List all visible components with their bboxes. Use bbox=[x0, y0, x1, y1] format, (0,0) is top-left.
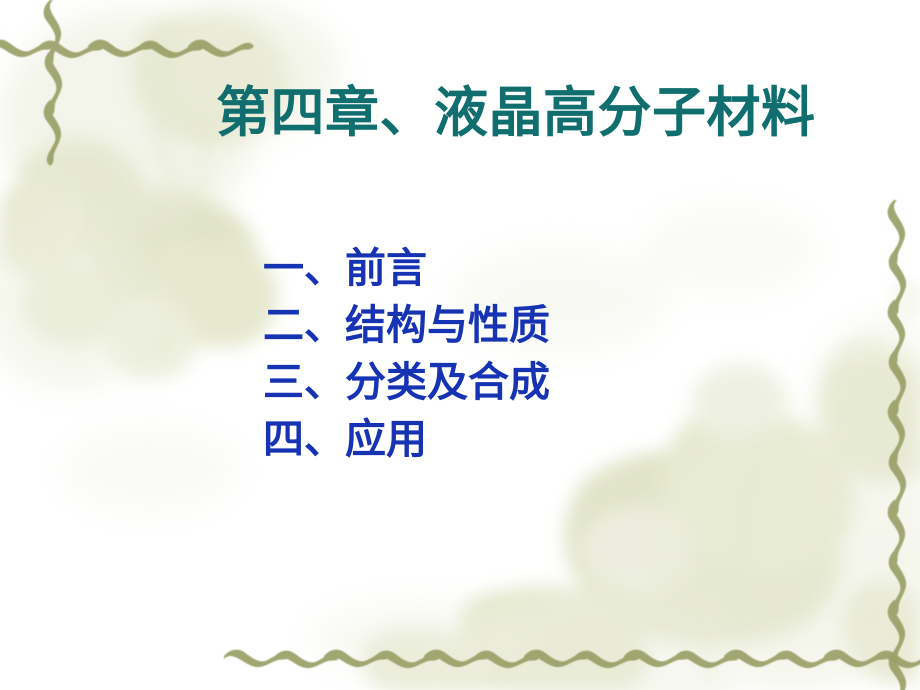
presentation-slide: 第四章、液晶高分子材料 一、前言 二、结构与性质 三、分类及合成 四、应用 bbox=[0, 0, 920, 690]
list-item[interactable]: 一、前言 bbox=[263, 240, 550, 297]
slide-content: 第四章、液晶高分子材料 一、前言 二、结构与性质 三、分类及合成 四、应用 bbox=[0, 0, 920, 690]
page-title: 第四章、液晶高分子材料 bbox=[216, 79, 816, 145]
list-item[interactable]: 三、分类及合成 bbox=[263, 354, 550, 411]
list-item[interactable]: 二、结构与性质 bbox=[263, 297, 550, 354]
outline-list: 一、前言 二、结构与性质 三、分类及合成 四、应用 bbox=[263, 240, 550, 468]
list-item[interactable]: 四、应用 bbox=[263, 411, 550, 468]
